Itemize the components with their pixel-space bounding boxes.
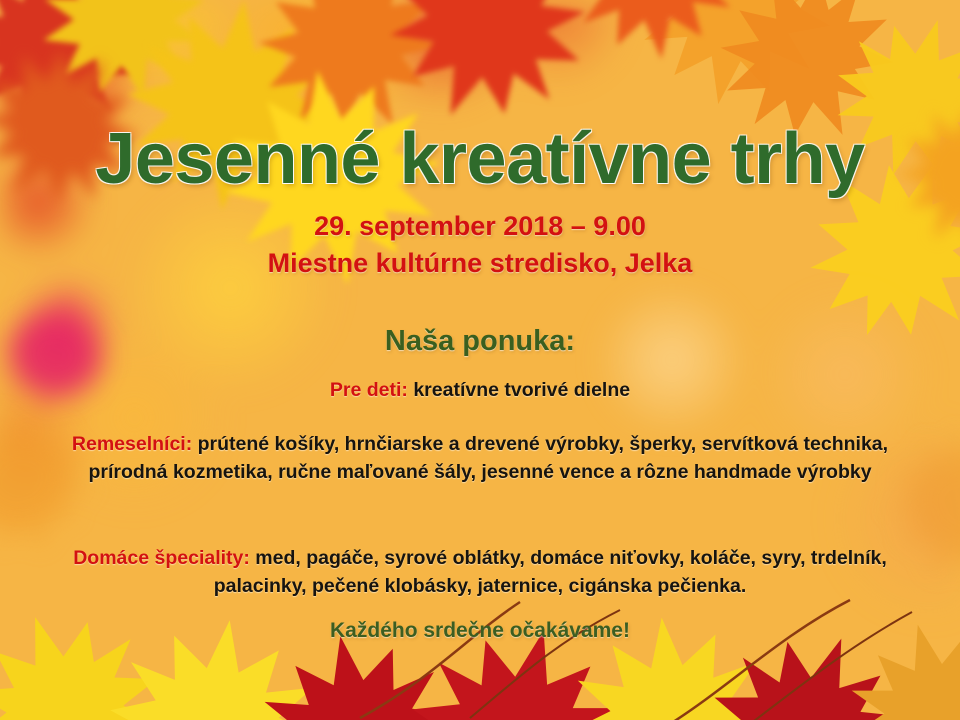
- offer-section-crafts-label: Remeselníci:: [72, 433, 192, 455]
- offer-section-food-body: med, pagáče, syrové oblátky, domáce niťo…: [214, 547, 887, 597]
- offer-section-kids-body: kreatívne tvorivé dielne: [408, 379, 630, 401]
- autumn-market-poster: Jesenné kreatívne trhy 29. september 201…: [0, 0, 960, 720]
- offer-section-food-label: Domáce špeciality:: [73, 547, 250, 569]
- offer-section-crafts-body: prútené košíky, hrnčiarske a drevené výr…: [88, 433, 888, 483]
- offer-section-kids-label: Pre deti:: [330, 379, 408, 401]
- event-details: 29. september 2018 – 9.00 Miestne kultúr…: [0, 208, 960, 283]
- event-date: 29. september 2018 – 9.00: [0, 208, 960, 245]
- offer-heading: Naša ponuka:: [0, 325, 960, 358]
- event-venue: Miestne kultúrne stredisko, Jelka: [0, 245, 960, 282]
- page-title: Jesenné kreatívne trhy: [0, 118, 960, 200]
- closing-invitation: Každého srdečne očakávame!: [0, 619, 960, 643]
- offer-section-crafts: Remeselníci: prútené košíky, hrnčiarske …: [42, 431, 918, 486]
- offer-section-food: Domáce špeciality: med, pagáče, syrové o…: [42, 545, 918, 600]
- poster-text-content: Jesenné kreatívne trhy 29. september 201…: [0, 0, 960, 720]
- offer-section-kids: Pre deti: kreatívne tvorivé dielne: [42, 377, 918, 405]
